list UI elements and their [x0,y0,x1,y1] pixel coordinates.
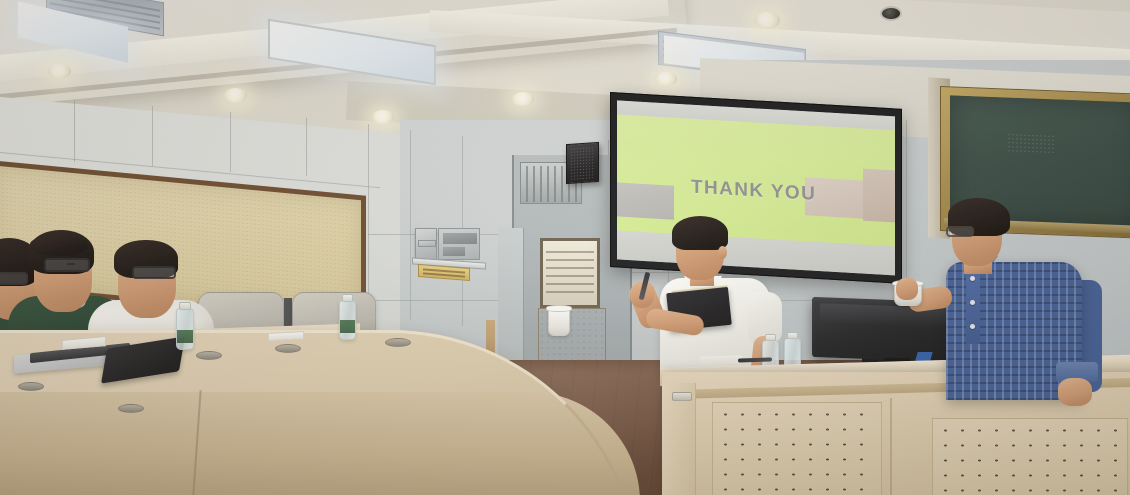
glasses-icon [0,272,28,285]
paper-cup[interactable] [548,308,570,336]
wall-seam [74,100,75,162]
projection-screen: THANK YOU [610,92,902,284]
glasses-bridge [67,263,75,265]
shirt-button [970,300,975,305]
wall-seam [368,124,369,296]
wall-seam [152,106,153,166]
podium-perforated-panel-right [932,418,1128,495]
podium-perforated-panel-left [712,402,882,495]
wall-speaker-icon [566,142,599,184]
notice-board-framed [540,238,600,308]
projection-screen-surface: THANK YOU [617,100,895,275]
bottle-label [177,330,193,343]
presenter-ear [718,246,727,259]
glasses-icon [132,266,176,279]
podium-panel-divider [890,398,892,495]
downlight-1 [48,64,71,79]
ceiling-speaker-icon [880,6,902,21]
wall-seam [410,130,411,320]
downlight-2 [224,88,247,103]
paper-cup-rim [546,305,572,312]
downlight-5 [655,72,677,86]
table-cable-grommet [118,404,144,413]
slide-accent-rect-beige-2 [863,169,895,223]
wall-seam [306,118,307,176]
water-bottle[interactable] [176,308,194,350]
perforation-pattern [937,423,1123,492]
attendee-blue-check-hand-right [1058,378,1092,406]
downlight-3 [372,110,394,124]
glasses-icon [44,258,90,272]
presenter-hair [672,216,728,250]
table-cable-grommet [275,344,301,353]
table-cable-grommet [196,351,222,360]
paper-card-on-podium [700,355,742,366]
chalk-residue [1007,133,1056,155]
bottle-cap [342,294,353,302]
table-cable-grommet [18,382,44,391]
podium-latch[interactable] [672,392,692,401]
downlight-4 [512,92,534,106]
wall-panel-device[interactable] [438,228,480,260]
bottle-label [340,320,355,333]
bottle-cap [765,334,776,341]
attendee-blue-check-hand-left [896,278,918,300]
slide-accent-rect-gray [617,182,674,219]
glasses-icon [946,226,974,237]
perforation-pattern [717,407,877,492]
conference-room-photo: THANK YOU [0,0,1130,495]
shirt-button [970,276,975,281]
wall-seam [368,300,518,301]
downlight-6 [754,12,780,29]
table-cable-grommet [385,338,411,347]
bottle-cap [179,302,191,310]
attendee-green-shirt-fringe [30,236,88,256]
bottle-cap [787,332,798,339]
wall-seam [230,112,231,172]
wall-switch-plate[interactable] [418,240,436,247]
shirt-button [970,324,975,329]
